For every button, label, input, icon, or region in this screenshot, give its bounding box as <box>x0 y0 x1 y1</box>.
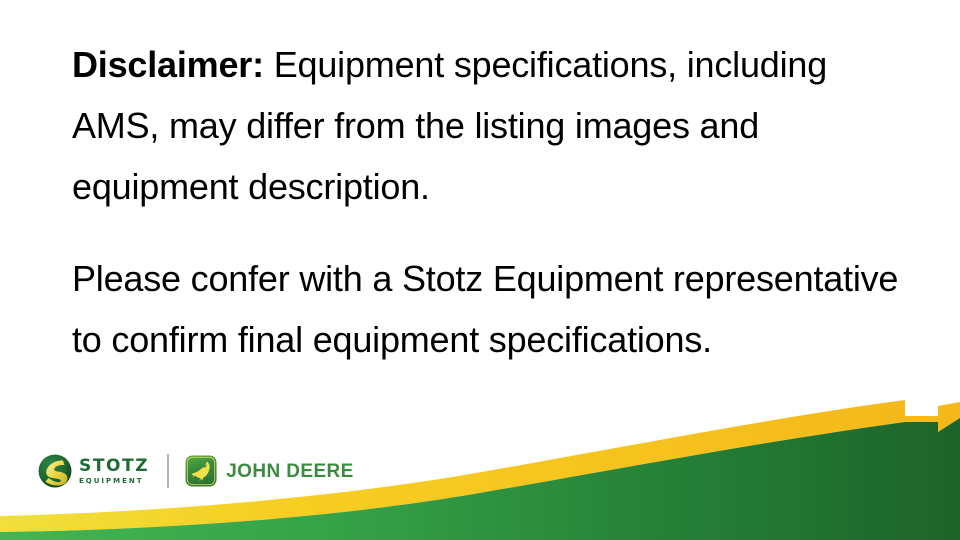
stotz-swoosh-icon <box>38 454 72 488</box>
stotz-equipment-logo: STOTZ EQUIPMENT <box>38 454 149 488</box>
footer-logo-bar: STOTZ EQUIPMENT JOHN DEERE <box>38 450 354 492</box>
disclaimer-paragraph: Disclaimer: Equipment specifications, in… <box>72 34 902 218</box>
confer-paragraph: Please confer with a Stotz Equipment rep… <box>72 248 902 370</box>
john-deere-leaping-deer-icon <box>185 455 217 487</box>
john-deere-wordmark-label: JOHN DEERE <box>226 462 354 481</box>
disclaimer-lead-label: Disclaimer: <box>72 44 264 85</box>
stotz-name-label: STOTZ <box>79 458 149 475</box>
slide-body-text: Disclaimer: Equipment specifications, in… <box>72 34 902 378</box>
disclaimer-slide: Disclaimer: Equipment specifications, in… <box>0 0 960 540</box>
logo-divider <box>167 454 169 488</box>
stotz-wordmark: STOTZ EQUIPMENT <box>79 458 149 485</box>
stotz-subtitle-label: EQUIPMENT <box>79 478 149 485</box>
john-deere-logo: JOHN DEERE <box>185 455 354 487</box>
